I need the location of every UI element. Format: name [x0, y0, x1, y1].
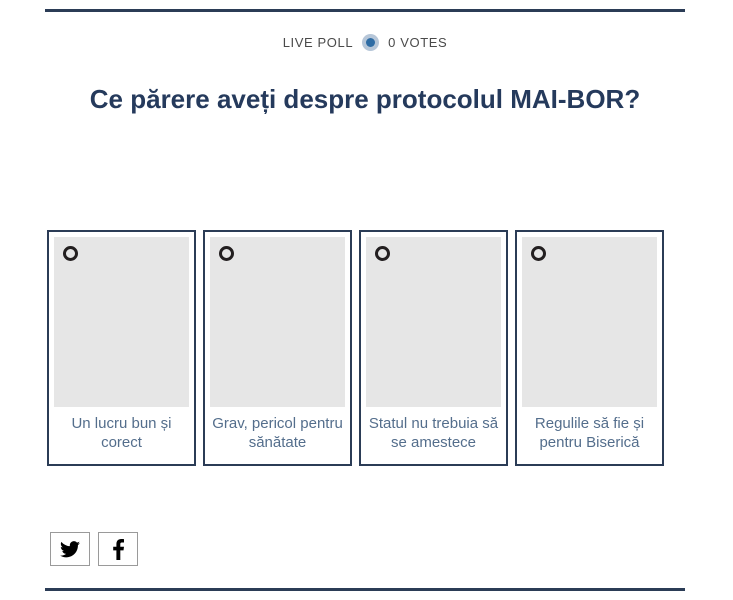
- poll-option-4[interactable]: Regulile să fie și pentru Biserică: [515, 230, 664, 466]
- live-poll-label: LIVE POLL: [283, 36, 353, 49]
- option-label: Grav, pericol pentru sănătate: [210, 407, 345, 464]
- vote-count-label: 0 VOTES: [388, 36, 447, 49]
- share-buttons: [50, 532, 138, 566]
- option-image-placeholder: [210, 237, 345, 407]
- option-image-placeholder: [54, 237, 189, 407]
- poll-widget: LIVE POLL 0 VOTES Ce părere aveți despre…: [45, 0, 685, 600]
- share-twitter-button[interactable]: [50, 532, 90, 566]
- poll-header: LIVE POLL 0 VOTES: [45, 32, 685, 52]
- poll-option-1[interactable]: Un lucru bun și corect: [47, 230, 196, 466]
- poll-option-3[interactable]: Statul nu trebuia să se amestece: [359, 230, 508, 466]
- radio-unchecked-icon[interactable]: [531, 246, 546, 261]
- option-label: Statul nu trebuia să se amestece: [366, 407, 501, 464]
- option-image-placeholder: [522, 237, 657, 407]
- option-image-placeholder: [366, 237, 501, 407]
- page-title: Ce părere aveți despre protocolul MAI-BO…: [65, 82, 665, 116]
- top-divider: [45, 9, 685, 12]
- bottom-divider: [45, 588, 685, 591]
- share-facebook-button[interactable]: [98, 532, 138, 566]
- radio-unchecked-icon[interactable]: [219, 246, 234, 261]
- poll-options: Un lucru bun și corect Grav, pericol pen…: [47, 230, 664, 466]
- twitter-icon: [60, 541, 80, 558]
- radio-unchecked-icon[interactable]: [63, 246, 78, 261]
- option-label: Un lucru bun și corect: [54, 407, 189, 464]
- poll-option-2[interactable]: Grav, pericol pentru sănătate: [203, 230, 352, 466]
- radio-unchecked-icon[interactable]: [375, 246, 390, 261]
- live-dot-icon: [362, 34, 379, 51]
- facebook-icon: [113, 539, 124, 560]
- option-label: Regulile să fie și pentru Biserică: [522, 407, 657, 464]
